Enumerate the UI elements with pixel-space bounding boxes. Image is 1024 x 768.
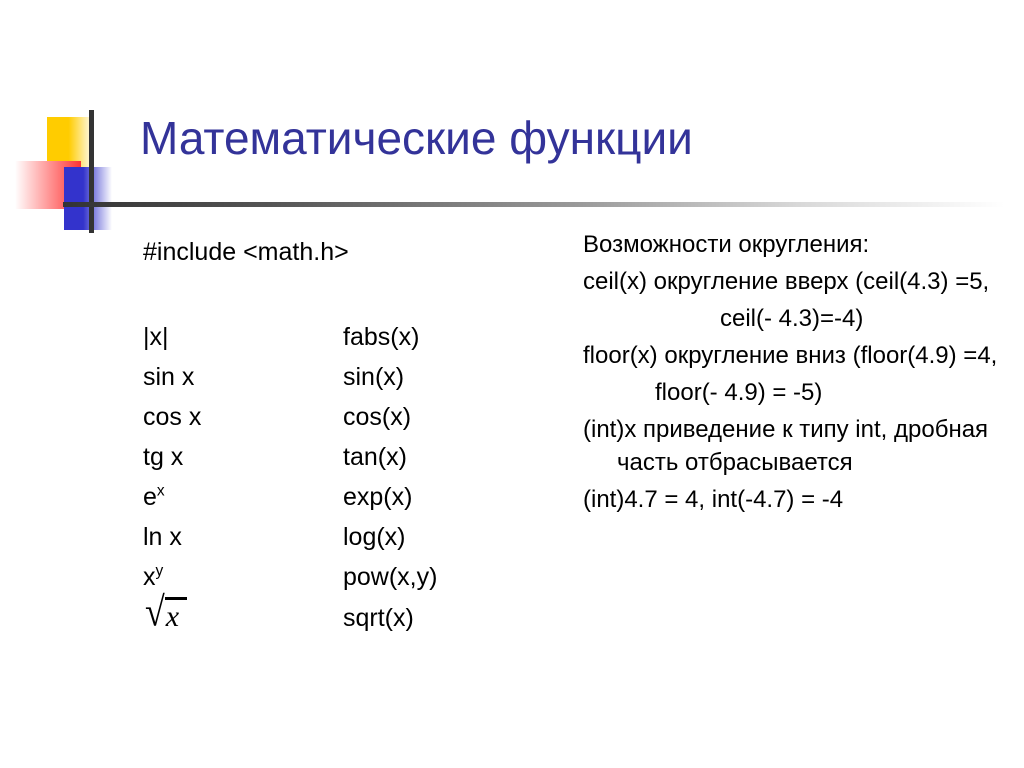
int-cast-description: (int)x приведение к типу int, дробная ча… bbox=[583, 413, 1013, 479]
function-cell: sin(x) bbox=[343, 357, 543, 397]
function-cell: log(x) bbox=[343, 517, 543, 557]
function-cell: tan(x) bbox=[343, 437, 543, 477]
expression-base: cos x bbox=[143, 403, 201, 431]
rounding-heading: Возможности округления: bbox=[583, 228, 1013, 261]
table-row: ln x log(x) bbox=[143, 517, 543, 557]
expression-base: sin x bbox=[143, 363, 194, 391]
expression-cell: tg x bbox=[143, 437, 343, 477]
expression-superscript: x bbox=[157, 483, 165, 500]
square-root-expression: √x bbox=[143, 597, 185, 634]
function-cell: sqrt(x) bbox=[343, 597, 543, 638]
expression-cell: |x| bbox=[143, 317, 343, 357]
expression-cell: sin x bbox=[143, 357, 343, 397]
expression-base: ln x bbox=[143, 523, 182, 551]
radicand-text: x bbox=[166, 600, 179, 633]
table-row: |x| fabs(x) bbox=[143, 317, 543, 357]
radical-overbar bbox=[165, 597, 187, 600]
table-row: tg x tan(x) bbox=[143, 437, 543, 477]
function-cell: fabs(x) bbox=[343, 317, 543, 357]
expression-base: e bbox=[143, 483, 157, 511]
table-row: √x sqrt(x) bbox=[143, 597, 543, 638]
math-function-table-body: |x| fabs(x) sin x sin(x) cos x cos(x) tg… bbox=[143, 317, 543, 638]
decoration-blue-square bbox=[64, 167, 112, 230]
expression-superscript: y bbox=[156, 563, 164, 580]
expression-base: x bbox=[143, 563, 156, 591]
expression-cell: xy bbox=[143, 557, 343, 597]
function-cell: pow(x,y) bbox=[343, 557, 543, 597]
include-directive: #include <math.h> bbox=[143, 232, 543, 272]
expression-base: tg x bbox=[143, 443, 183, 471]
page-title: Математические функции bbox=[140, 108, 693, 168]
radical-icon: √ bbox=[145, 592, 165, 631]
decoration-horizontal-rule bbox=[63, 202, 1005, 207]
table-row: cos x cos(x) bbox=[143, 397, 543, 437]
int-cast-example: (int)4.7 = 4, int(-4.7) = -4 bbox=[583, 483, 1013, 516]
expression-base: |x| bbox=[143, 323, 169, 351]
expression-cell-sqrt: √x bbox=[143, 597, 343, 638]
floor-negative-example: floor(- 4.9) = -5) bbox=[583, 376, 1013, 409]
radicand: x bbox=[165, 600, 185, 634]
left-column: #include <math.h> |x| fabs(x) sin x sin(… bbox=[143, 232, 543, 638]
right-column: Возможности округления: ceil(x) округлен… bbox=[583, 228, 1013, 520]
ceil-negative-example: ceil(- 4.3)=-4) bbox=[583, 302, 1013, 335]
table-row: sin x sin(x) bbox=[143, 357, 543, 397]
table-row: xy pow(x,y) bbox=[143, 557, 543, 597]
ceil-description: ceil(x) округление вверх (ceil(4.3) =5, bbox=[583, 265, 1013, 298]
title-area: Математические функции bbox=[0, 0, 1024, 230]
decoration-vertical-line bbox=[89, 110, 94, 233]
function-cell: exp(x) bbox=[343, 477, 543, 517]
expression-cell: ln x bbox=[143, 517, 343, 557]
math-function-table: |x| fabs(x) sin x sin(x) cos x cos(x) tg… bbox=[143, 317, 543, 638]
expression-cell: cos x bbox=[143, 397, 343, 437]
function-cell: cos(x) bbox=[343, 397, 543, 437]
expression-cell: ex bbox=[143, 477, 343, 517]
table-row: ex exp(x) bbox=[143, 477, 543, 517]
floor-description: floor(x) округление вниз (floor(4.9) =4, bbox=[583, 339, 1013, 372]
